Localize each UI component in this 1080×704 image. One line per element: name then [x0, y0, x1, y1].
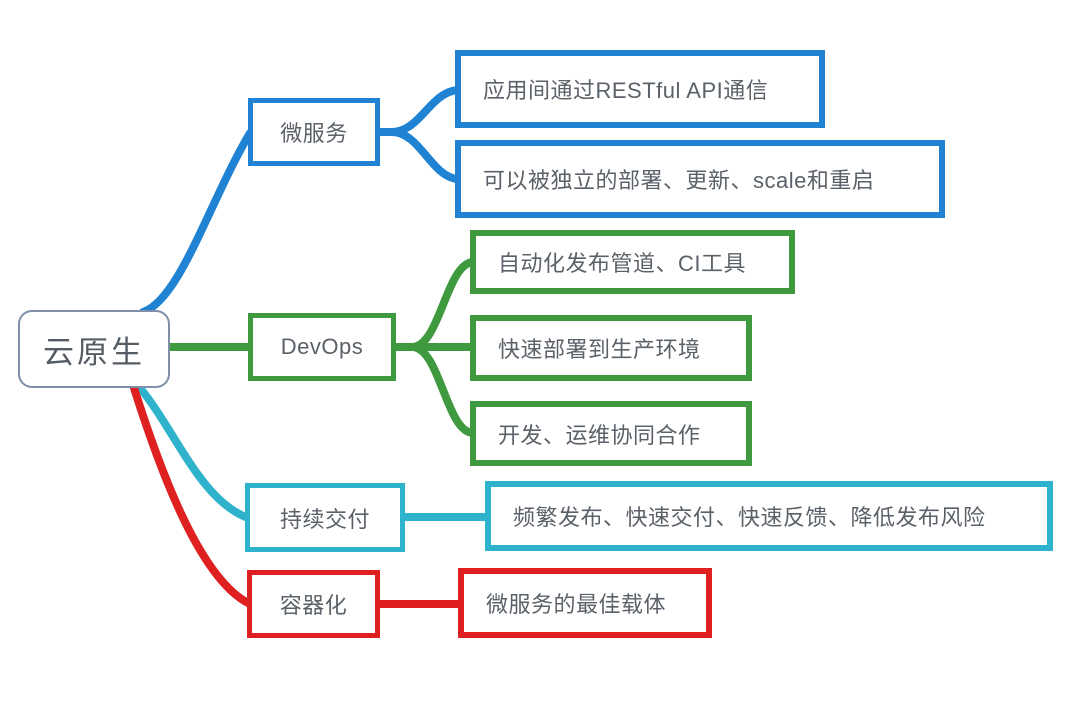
branch-node-label: DevOps — [281, 334, 363, 360]
leaf-node-microservice-1[interactable]: 应用间通过RESTful API通信 — [455, 50, 825, 128]
branch-node-label: 持续交付 — [280, 502, 370, 534]
leaf-node-label: 频繁发布、快速交付、快速反馈、降低发布风险 — [513, 500, 986, 532]
mindmap-canvas: 云原生 微服务 应用间通过RESTful API通信 可以被独立的部署、更新、s… — [0, 0, 1080, 704]
leaf-node-label: 可以被独立的部署、更新、scale和重启 — [483, 163, 874, 195]
branch-node-continuous-delivery[interactable]: 持续交付 — [245, 483, 405, 552]
link-devops-to-child-1 — [396, 262, 473, 347]
link-root-to-microservice — [143, 133, 250, 312]
leaf-node-devops-3[interactable]: 开发、运维协同合作 — [470, 401, 752, 466]
link-devops-to-child-3 — [396, 347, 473, 433]
leaf-node-containerization-1[interactable]: 微服务的最佳载体 — [458, 568, 712, 638]
leaf-node-continuous-delivery-1[interactable]: 频繁发布、快速交付、快速反馈、降低发布风险 — [485, 481, 1053, 551]
root-node-cloud-native[interactable]: 云原生 — [18, 310, 170, 388]
leaf-node-devops-1[interactable]: 自动化发布管道、CI工具 — [470, 230, 795, 294]
link-root-to-containerization — [134, 388, 250, 604]
leaf-node-devops-2[interactable]: 快速部署到生产环境 — [470, 315, 752, 381]
branch-node-devops[interactable]: DevOps — [248, 313, 396, 381]
leaf-node-label: 应用间通过RESTful API通信 — [483, 73, 768, 105]
branch-node-label: 容器化 — [280, 588, 348, 620]
leaf-node-label: 自动化发布管道、CI工具 — [498, 246, 746, 278]
link-root-to-continuous-delivery — [140, 388, 248, 518]
branch-node-microservice[interactable]: 微服务 — [248, 98, 380, 166]
leaf-node-microservice-2[interactable]: 可以被独立的部署、更新、scale和重启 — [455, 140, 945, 218]
branch-node-label: 微服务 — [280, 116, 348, 148]
leaf-node-label: 微服务的最佳载体 — [486, 587, 666, 619]
root-node-label: 云原生 — [43, 327, 145, 372]
branch-node-containerization[interactable]: 容器化 — [247, 570, 380, 638]
leaf-node-label: 开发、运维协同合作 — [498, 418, 701, 450]
link-microservice-to-child-2 — [380, 132, 458, 179]
leaf-node-label: 快速部署到生产环境 — [498, 332, 701, 364]
link-microservice-to-child-1 — [380, 90, 458, 132]
